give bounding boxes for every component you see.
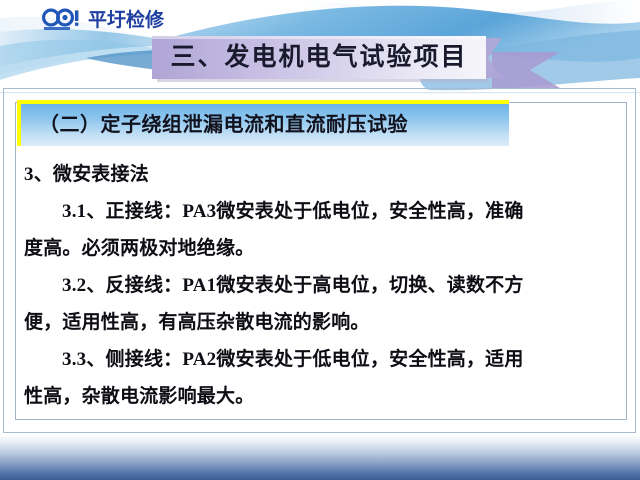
coi-logo-icon: [42, 8, 84, 32]
body-line: 性高，杂散电流影响最大。: [24, 378, 620, 415]
slide-title-banner: 三、发电机电气试验项目: [152, 36, 502, 82]
body-line: 3、微安表接法: [24, 156, 620, 193]
slide-header: 平圩检修: [0, 0, 640, 96]
slide-footer-band: [0, 434, 640, 480]
section-subtitle-box: （二）定子绕组泄漏电流和直流耐压试验: [21, 104, 509, 146]
slide-canvas: 平圩检修: [0, 0, 640, 480]
body-line: 3.3、侧接线：PA2微安表处于低电位，安全性高，适用: [24, 341, 620, 378]
body-line: 3.2、反接线：PA1微安表处于高电位，切换、读数不方: [24, 267, 620, 304]
logo-company-name: 平圩检修: [88, 8, 164, 32]
body-line: 3.1、正接线：PA3微安表处于低电位，安全性高，准确: [24, 193, 620, 230]
body-line: 便，适用性高，有高压杂散电流的影响。: [24, 304, 620, 341]
section-subtitle-text: （二）定子绕组泄漏电流和直流耐压试验: [39, 115, 408, 135]
company-logo: 平圩检修: [42, 6, 164, 34]
section-subtitle-highlight: （二）定子绕组泄漏电流和直流耐压试验: [17, 100, 509, 146]
body-line: 度高。必须两极对地绝缘。: [24, 230, 620, 267]
page-title: 三、发电机电气试验项目: [152, 36, 486, 79]
slide-body-text: 3、微安表接法 3.1、正接线：PA3微安表处于低电位，安全性高，准确 度高。必…: [24, 156, 620, 415]
